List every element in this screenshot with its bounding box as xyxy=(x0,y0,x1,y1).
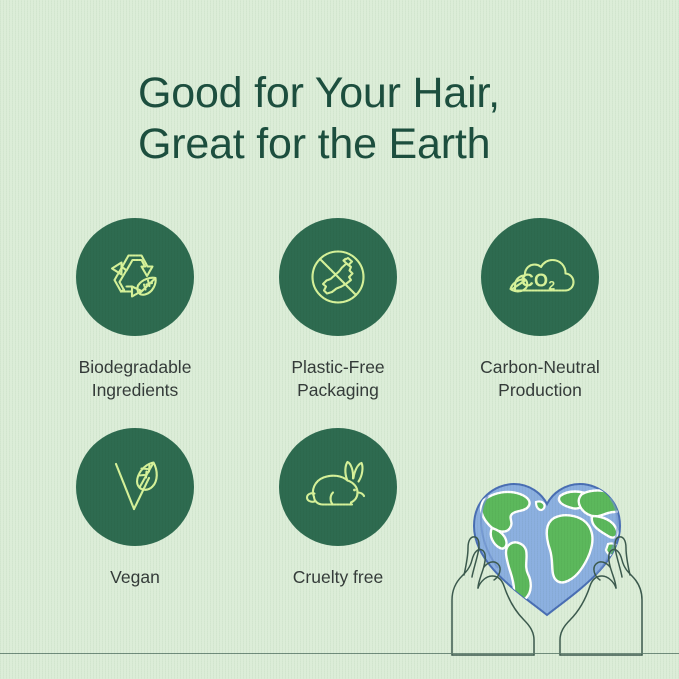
baseline-rule xyxy=(0,653,679,654)
badge-circle-plastic-free xyxy=(279,218,397,336)
promo-card: Good for Your Hair, Great for the Earth xyxy=(0,0,679,679)
badge-circle-biodegradable xyxy=(76,218,194,336)
recycle-leaf-icon xyxy=(100,242,170,312)
badge-cruelty-free: Cruelty free xyxy=(253,428,423,589)
vegan-leaf-v-icon xyxy=(102,452,168,522)
rabbit-icon xyxy=(300,455,376,519)
page-title: Good for Your Hair, Great for the Earth xyxy=(138,68,658,170)
badge-label-carbon-neutral: Carbon-Neutral Production xyxy=(455,356,625,402)
badge-biodegradable: Biodegradable Ingredients xyxy=(50,218,220,402)
badge-label-cruelty-free: Cruelty free xyxy=(253,566,423,589)
badge-label-vegan: Vegan xyxy=(50,566,220,589)
badge-vegan: Vegan xyxy=(50,428,220,589)
badge-plastic-free: Plastic-Free Packaging xyxy=(253,218,423,402)
badge-label-biodegradable: Biodegradable Ingredients xyxy=(50,356,220,402)
co2-cloud-leaf-icon: CO2 xyxy=(502,246,578,308)
badge-circle-cruelty-free xyxy=(279,428,397,546)
badge-circle-carbon-neutral: CO2 xyxy=(481,218,599,336)
badge-circle-vegan xyxy=(76,428,194,546)
heart-earth-globe xyxy=(474,484,623,615)
heart-earth-in-hands-illustration xyxy=(432,440,662,670)
badge-label-plastic-free: Plastic-Free Packaging xyxy=(253,356,423,402)
badge-carbon-neutral: CO2 Carbon-Neutral Production xyxy=(455,218,625,402)
no-plastic-bottle-icon xyxy=(302,241,374,313)
svg-text:CO2: CO2 xyxy=(521,271,556,293)
